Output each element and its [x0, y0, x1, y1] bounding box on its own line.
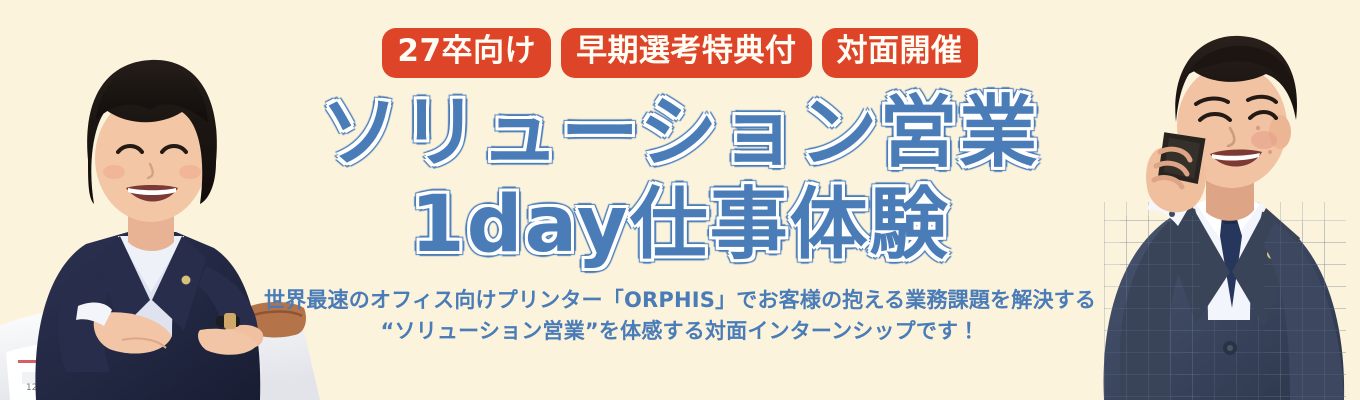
subtitle-line-2: “ソリューション営業”を体感する対面インターンシップです！	[264, 316, 1096, 348]
internship-hero-banner: 120 90 70 次元が違う速さに 高い印字品質を備え	[0, 0, 1360, 400]
badge-early-selection-bonus: 早期選考特典付	[561, 28, 812, 78]
headline-line-2: 1day仕事体験	[410, 184, 949, 267]
banner-content: 27卒向け 早期選考特典付 対面開催 ソリューション営業 1day仕事体験 世界…	[270, 0, 1090, 400]
photo-male-employee	[1060, 0, 1360, 400]
badge-target-graduates: 27卒向け	[382, 28, 551, 78]
subtitle: 世界最速のオフィス向けプリンター「ORPHIS」でお客様の抱える業務課題を解決す…	[264, 285, 1096, 348]
badge-in-person: 対面開催	[822, 28, 978, 78]
headline-line-1: ソリューション営業	[321, 92, 1039, 175]
subtitle-line-1: 世界最速のオフィス向けプリンター「ORPHIS」でお客様の抱える業務課題を解決す…	[264, 285, 1096, 317]
page-title: ソリューション営業 1day仕事体験	[321, 92, 1039, 267]
badge-row: 27卒向け 早期選考特典付 対面開催	[382, 28, 977, 78]
